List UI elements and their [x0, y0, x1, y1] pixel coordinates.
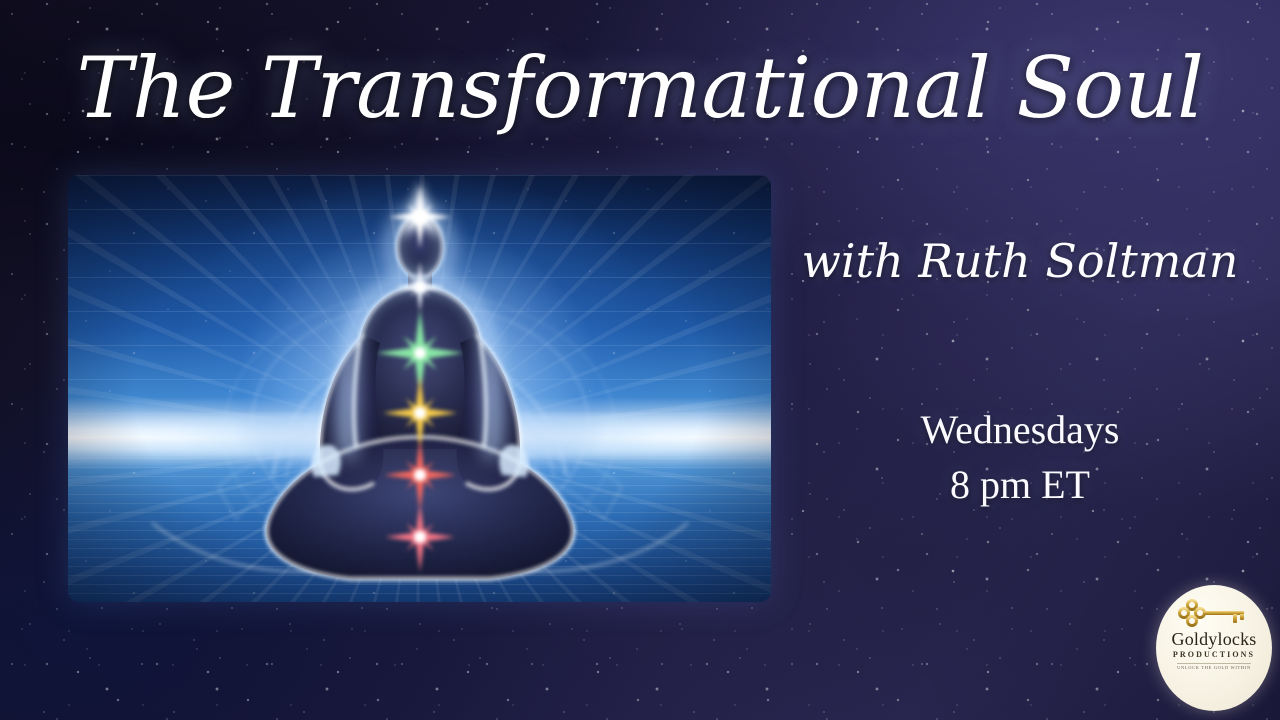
art-vignette [68, 175, 771, 602]
logo-brand: Goldylocks [1172, 630, 1257, 648]
schedule-block: Wednesdays 8 pm ET [820, 402, 1220, 512]
schedule-day: Wednesdays [820, 402, 1220, 457]
host-line: with Ruth Soltman [790, 238, 1250, 284]
gold-key-icon [1177, 598, 1251, 628]
logo-tagline: UNLOCK THE GOLD WITHIN [1177, 663, 1251, 670]
poster-canvas: The Transformational Soul [0, 0, 1280, 720]
meditation-artwork [68, 175, 771, 602]
schedule-time: 8 pm ET [820, 457, 1220, 512]
goldylocks-logo-badge[interactable]: Goldylocks PRODUCTIONS UNLOCK THE GOLD W… [1156, 585, 1272, 711]
page-title: The Transformational Soul [0, 46, 1280, 130]
logo-subtitle: PRODUCTIONS [1173, 651, 1255, 659]
